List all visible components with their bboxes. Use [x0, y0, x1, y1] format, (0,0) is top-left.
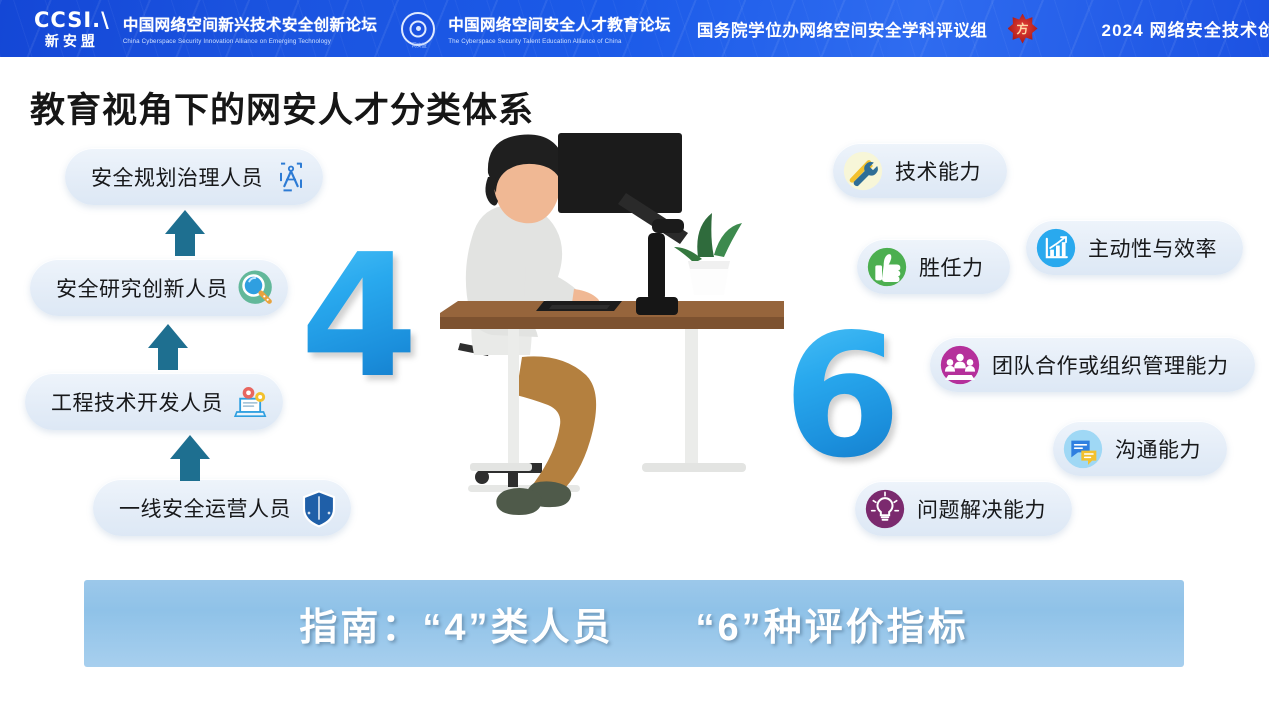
metric-label: 胜任力: [919, 252, 984, 282]
slide-root: CCSI.\ 新安盟 中国网络空间新兴技术安全创新论坛 China Cybers…: [0, 0, 1269, 713]
big-number-four: 4: [300, 232, 418, 402]
plant: [674, 213, 742, 295]
metric-label: 沟通能力: [1115, 434, 1201, 464]
metric-label: 主动性与效率: [1088, 233, 1217, 263]
keyboard: [536, 301, 622, 311]
category-label: 安全研究创新人员: [56, 273, 228, 303]
laptop-gears-icon: [231, 382, 271, 422]
category-pill-security-research[interactable]: 安全研究创新人员: [30, 259, 288, 316]
ccsi-logo: CCSI.\ 新安盟: [34, 10, 110, 48]
growth-chart-icon: [1036, 228, 1076, 268]
category-pill-frontline-ops[interactable]: 一线安全运营人员: [93, 479, 351, 536]
person-at-standing-desk-illustration: [430, 125, 790, 535]
category-pill-security-planning[interactable]: 安全规划治理人员: [65, 148, 323, 205]
alliance-name-block: 中国网络空间新兴技术安全创新论坛 China Cyberspace Securi…: [123, 13, 377, 45]
ccsi-logo-latin: CCSI.\: [34, 10, 110, 31]
category-label: 一线安全运营人员: [119, 493, 291, 523]
talent-alliance-cn: 中国网络空间安全人才教育论坛: [448, 13, 671, 35]
big-number-six: 6: [783, 312, 901, 482]
ccsi-logo-chinese: 新安盟: [45, 34, 99, 48]
metric-pill-problem-solving[interactable]: 问题解决能力: [855, 481, 1072, 536]
talent-alliance-en: The Cyberspace Security Talent Education…: [448, 38, 671, 45]
shield-icon: [299, 488, 339, 528]
conference-header-bar: CCSI.\ 新安盟 中国网络空间新兴技术安全创新论坛 China Cybers…: [0, 0, 1269, 57]
thumbs-up-icon: [867, 247, 907, 287]
magnifier-icon: [236, 268, 276, 308]
wrench-screwdriver-icon: [843, 151, 883, 191]
metric-pill-competency[interactable]: 胜任力: [857, 239, 1010, 294]
compass-divider-icon: [271, 157, 311, 197]
alliance-emblem-icon: 网安盟: [401, 12, 435, 46]
metric-label: 技术能力: [895, 156, 981, 186]
alliance-emblem-caption: 网安盟: [401, 42, 437, 49]
summary-banner-text: 指南：“4”类人员 “6”种评价指标: [299, 596, 968, 651]
metric-pill-initiative-efficiency[interactable]: 主动性与效率: [1026, 220, 1243, 275]
council-badge-glyph: 方: [1008, 14, 1038, 44]
alliance-name-en: China Cyberspace Security Innovation All…: [123, 38, 377, 45]
metric-label: 团队合作或组织管理能力: [992, 350, 1229, 380]
forum-title: 2024 网络安全技术创新与人才教育高峰论坛: [1102, 16, 1269, 41]
team-icon: [940, 345, 980, 385]
metric-pill-teamwork-management[interactable]: 团队合作或组织管理能力: [930, 337, 1255, 392]
summary-banner: 指南：“4”类人员 “6”种评价指标: [84, 580, 1184, 667]
metric-pill-technical-ability[interactable]: 技术能力: [833, 143, 1007, 198]
alliance-name-cn: 中国网络空间新兴技术安全创新论坛: [123, 13, 377, 35]
talent-alliance-block: 中国网络空间安全人才教育论坛 The Cyberspace Security T…: [448, 13, 671, 45]
category-pill-engineering-dev[interactable]: 工程技术开发人员: [25, 373, 283, 430]
monitor: [558, 133, 688, 315]
metric-pill-communication[interactable]: 沟通能力: [1053, 421, 1227, 476]
council-title: 国务院学位办网络空间安全学科评议组: [697, 17, 988, 41]
council-badge-icon: 方: [1008, 14, 1038, 44]
category-label: 安全规划治理人员: [91, 162, 263, 192]
lightbulb-icon: [865, 489, 905, 529]
chat-bubbles-icon: [1063, 429, 1103, 469]
metric-label: 问题解决能力: [917, 494, 1046, 524]
category-label: 工程技术开发人员: [51, 387, 223, 417]
standing-desk: [440, 301, 784, 472]
